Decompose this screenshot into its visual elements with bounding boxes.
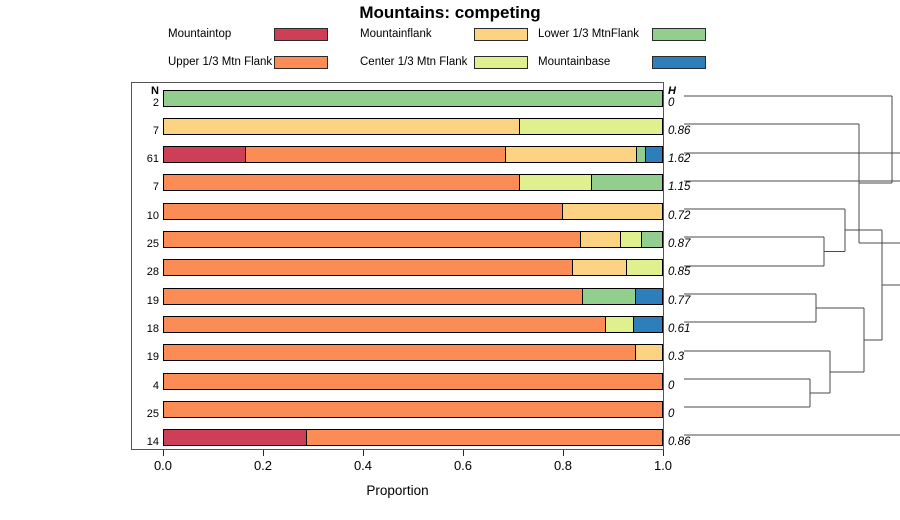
x-axis-label: Proportion [131, 483, 664, 498]
stacked-bar[interactable] [163, 203, 663, 220]
column-header-n: N [131, 85, 159, 97]
row-n-value: 25 [131, 408, 159, 420]
table-row: VALMAR611.62 [131, 140, 664, 168]
table-row: ELAERO190.3 [131, 338, 664, 366]
stacked-bar[interactable] [163, 146, 663, 163]
stacked-bar[interactable] [163, 259, 663, 276]
bar-segment[interactable] [164, 430, 307, 445]
x-tick [163, 450, 164, 456]
row-n-value: 4 [131, 380, 159, 392]
table-row: VITALE280.85 [131, 253, 664, 281]
table-row: MOREYPEAK140.86 [131, 423, 664, 451]
bar-segment[interactable] [563, 204, 662, 219]
x-tick-label: 1.0 [643, 458, 683, 473]
legend-swatch [274, 28, 328, 41]
x-tick [463, 450, 464, 456]
bar-segment[interactable] [627, 260, 662, 275]
bar-segment[interactable] [164, 345, 636, 360]
bar-segment[interactable] [583, 289, 636, 304]
legend-swatch [274, 56, 328, 69]
bar-segment[interactable] [636, 289, 662, 304]
stacked-bar[interactable] [163, 174, 663, 191]
bar-segment[interactable] [164, 289, 583, 304]
bar-segment[interactable] [246, 147, 506, 162]
table-row: HEENLAKE250 [131, 395, 664, 423]
bar-segment[interactable] [520, 175, 592, 190]
table-row: NHPEQUOP20 [131, 84, 664, 112]
x-tick [563, 450, 564, 456]
bar-rows: NHPEQUOP20CLANALPINE70.86VALMAR611.62HOL… [131, 82, 664, 450]
bar-segment[interactable] [573, 260, 627, 275]
bar-segment[interactable] [637, 147, 646, 162]
bar-segment[interactable] [520, 119, 662, 134]
bar-segment[interactable] [164, 204, 563, 219]
legend-swatch [652, 56, 706, 69]
x-tick [263, 450, 264, 456]
bar-segment[interactable] [164, 402, 662, 417]
legend-label: Mountainbase [538, 56, 610, 69]
bar-segment[interactable] [164, 147, 246, 162]
x-tick-label: 0.6 [443, 458, 483, 473]
stacked-bar[interactable] [163, 118, 663, 135]
stacked-bar[interactable] [163, 401, 663, 418]
legend-swatch [474, 28, 528, 41]
x-tick [663, 450, 664, 456]
page-title: Mountains: competing [0, 3, 900, 23]
x-tick-label: 0.0 [143, 458, 183, 473]
stacked-bar[interactable] [163, 288, 663, 305]
bar-segment[interactable] [642, 232, 662, 247]
table-row: HOWCAN190.77 [131, 282, 664, 310]
bar-segment[interactable] [606, 317, 634, 332]
bar-segment[interactable] [164, 91, 662, 106]
bar-segment[interactable] [646, 147, 662, 162]
table-row: HOSKIN180.61 [131, 310, 664, 338]
x-tick [363, 450, 364, 456]
table-row: HOLMES71.15 [131, 168, 664, 196]
bar-segment[interactable] [506, 147, 636, 162]
table-row: CLANALPINE70.86 [131, 112, 664, 140]
dendrogram-svg [664, 82, 900, 450]
row-n-value: 19 [131, 351, 159, 363]
row-n-value: 7 [131, 181, 159, 193]
legend-label: Mountainflank [360, 28, 432, 41]
row-n-value: 18 [131, 323, 159, 335]
bar-segment[interactable] [636, 345, 662, 360]
legend-label: Lower 1/3 MtnFlank [538, 28, 639, 41]
bar-segment[interactable] [621, 232, 642, 247]
x-tick-label: 0.8 [543, 458, 583, 473]
row-n-value: 10 [131, 210, 159, 222]
legend-swatch [474, 56, 528, 69]
stacked-bar[interactable] [163, 316, 663, 333]
stacked-bar[interactable] [163, 429, 663, 446]
legend-label: Mountaintop [168, 28, 231, 41]
row-n-value: 7 [131, 125, 159, 137]
x-axis: 0.00.20.40.60.81.0 [131, 450, 664, 451]
row-n-value: 61 [131, 153, 159, 165]
bar-segment[interactable] [581, 232, 622, 247]
row-n-value: 14 [131, 436, 159, 448]
dendrogram [664, 82, 900, 450]
bar-segment[interactable] [164, 232, 581, 247]
bar-segment[interactable] [307, 430, 662, 445]
x-tick-label: 0.2 [243, 458, 283, 473]
bar-segment[interactable] [634, 317, 662, 332]
bar-segment[interactable] [164, 374, 662, 389]
legend: MountaintopUpper 1/3 Mtn FlankMountainfl… [168, 28, 688, 56]
row-n-value: 19 [131, 295, 159, 307]
bar-segment[interactable] [164, 317, 606, 332]
row-n-value: 28 [131, 266, 159, 278]
table-row: HORROCKS250.87 [131, 225, 664, 253]
legend-label: Center 1/3 Mtn Flank [360, 56, 467, 69]
bar-segment[interactable] [164, 175, 520, 190]
stacked-bar[interactable] [163, 231, 663, 248]
bar-segment[interactable] [164, 260, 573, 275]
table-row: LONGDAY40 [131, 367, 664, 395]
bar-segment[interactable] [592, 175, 662, 190]
stacked-bar[interactable] [163, 90, 663, 107]
legend-label: Upper 1/3 Mtn Flank [168, 56, 272, 69]
bar-segment[interactable] [164, 119, 520, 134]
x-tick-label: 0.4 [343, 458, 383, 473]
row-n-value: 2 [131, 97, 159, 109]
row-n-value: 25 [131, 238, 159, 250]
stacked-bar[interactable] [163, 344, 663, 361]
table-row: SUAK100.72 [131, 197, 664, 225]
stacked-bar[interactable] [163, 373, 663, 390]
legend-swatch [652, 28, 706, 41]
